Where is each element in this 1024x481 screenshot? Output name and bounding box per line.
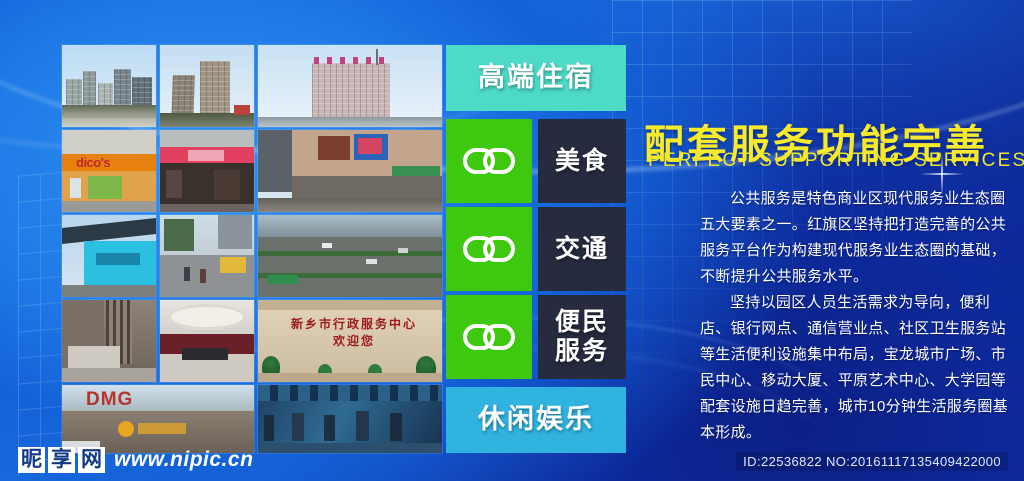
link-icon (463, 324, 515, 350)
service-icon-tile-convenience[interactable] (446, 295, 532, 379)
photo-dicos-storefront: dico's (62, 130, 156, 212)
watermark-char-2: 享 (48, 447, 75, 473)
label-banner-bottom[interactable]: 休闲娱乐 (446, 387, 626, 453)
link-icon (463, 148, 515, 174)
photo-gym-interior (258, 385, 442, 453)
service-label-convenience[interactable]: 便民 服务 (538, 295, 626, 379)
photo-admin-center: 新乡市行政服务中心欢迎您 (258, 300, 442, 382)
page-subtitle: PERFECT SUPPORTING SERVICES (648, 150, 1024, 172)
photo-restaurant-frontage (160, 130, 254, 212)
image-id-label: ID:22536822 NO:20161117135409422000 (736, 452, 1008, 471)
body-paragraph-1: 公共服务是特色商业区现代服务业生态圈五大要素之一。红旗区坚持把打造完善的公共服务… (700, 186, 1018, 290)
link-icon (463, 236, 515, 262)
service-label-food[interactable]: 美食 (538, 119, 626, 203)
service-icon-tile-food[interactable] (446, 119, 532, 203)
photo-pedestrian-street (160, 215, 254, 297)
label-banner-top[interactable]: 高端住宿 (446, 45, 626, 111)
watermark-logo-cn: 昵 享 网 (18, 447, 105, 473)
label-banner-top-text: 高端住宿 (478, 62, 594, 93)
photo-bus-station (62, 215, 156, 297)
service-icon-tile-transport[interactable] (446, 207, 532, 291)
photo-office-lobby (62, 300, 156, 382)
poster-canvas: dico's (0, 0, 1024, 481)
photo-shopping-street (258, 130, 442, 212)
service-label-convenience-text: 便民 服务 (555, 308, 609, 366)
watermark-char-3: 网 (78, 447, 105, 473)
service-label-transport-text: 交通 (555, 235, 609, 264)
photo-dmg-mall: DMG (62, 385, 254, 453)
watermark: 昵 享 网 www.nipic.cn (18, 447, 253, 473)
photo-highrise-plaza (62, 45, 156, 127)
service-label-column: 高端住宿 美食 交通 便民 服务 休闲娱乐 (446, 45, 626, 453)
body-copy: 公共服务是特色商业区现代服务业生态圈五大要素之一。红旗区坚持把打造完善的公共服务… (700, 186, 1018, 446)
service-label-food-text: 美食 (555, 147, 609, 176)
photo-collage: dico's (62, 45, 442, 453)
service-label-transport[interactable]: 交通 (538, 207, 626, 291)
watermark-url: www.nipic.cn (114, 448, 253, 472)
watermark-char-1: 昵 (18, 447, 45, 473)
label-banner-bottom-text: 休闲娱乐 (478, 404, 594, 435)
photo-twin-towers (160, 45, 254, 127)
photo-hotel-tower (258, 45, 442, 127)
photo-city-highway (258, 215, 442, 297)
photo-service-hall (160, 300, 254, 382)
body-paragraph-2: 坚持以园区人员生活需求为导向，便利店、银行网点、通信营业点、社区卫生服务站等生活… (700, 290, 1018, 446)
